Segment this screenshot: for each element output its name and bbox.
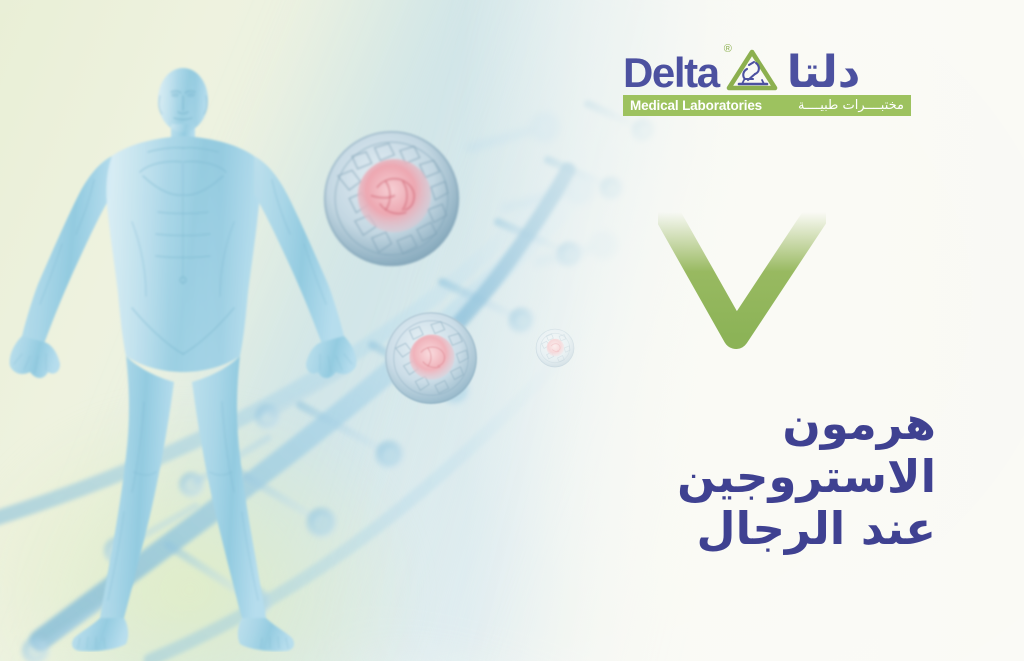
registered-trademark-icon: ® (724, 44, 732, 55)
logo-tagline-bar: Medical Laboratories مختبــــرات طبيــــ… (623, 95, 911, 116)
headline-line-1: هرمون الاستروجين (677, 397, 936, 503)
logo-tagline-en: Medical Laboratories (630, 98, 762, 113)
green-check-v-icon (658, 208, 826, 350)
brand-logo[interactable]: Delta ® (623, 43, 911, 116)
delta-triangle-microscope-icon: ® (723, 45, 781, 93)
logo-wordmark-en: Delta (623, 53, 719, 93)
poster-canvas: Delta ® (0, 0, 1024, 661)
page-title: هرمون الاستروجين عند الرجال (516, 398, 936, 556)
headline-line-2: عند الرجال (516, 503, 936, 556)
logo-wordmark-ar: دلتا (787, 53, 861, 93)
logo-tagline-ar: مختبــــرات طبيــــة (798, 98, 904, 113)
